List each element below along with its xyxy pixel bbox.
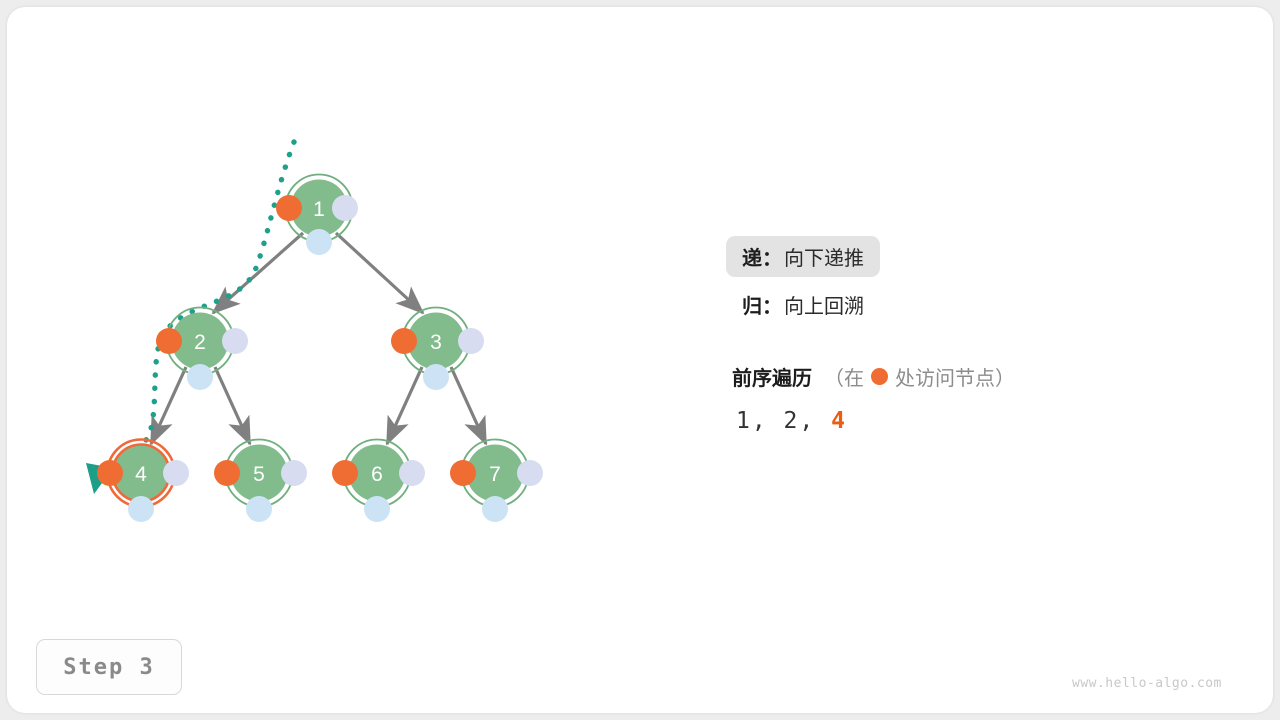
tree-nodes: 1 2 3: [97, 175, 543, 523]
node-6-lavender-dot: [399, 460, 425, 486]
edge-3-6: [387, 367, 422, 444]
traversal-heading: 前序遍历 （在 处访问节点）: [732, 362, 1015, 391]
node-2-blue-dot: [187, 364, 213, 390]
legend-badge-recurse: 递： 向下递推: [726, 236, 880, 277]
node-6-label: 6: [371, 463, 383, 486]
recursion-path-line: [112, 142, 294, 470]
node-1-lavender-dot: [332, 195, 358, 221]
traversal-note-suffix: 处访问节点）: [895, 362, 1015, 391]
traversal-title: 前序遍历: [732, 362, 812, 391]
legend-text-backtrack: 向上回溯: [784, 290, 864, 319]
node-6-orange-dot: [332, 460, 358, 486]
edge-1-2: [213, 233, 303, 313]
legend-text-recurse: 向下递推: [784, 242, 864, 271]
tree-node-4[interactable]: 4: [97, 440, 189, 523]
node-1-label: 1: [313, 198, 325, 221]
node-4-lavender-dot: [163, 460, 189, 486]
node-1-blue-dot: [306, 229, 332, 255]
node-2-label: 2: [194, 331, 206, 354]
node-3-blue-dot: [423, 364, 449, 390]
step-badge: Step 3: [36, 639, 182, 695]
tree-node-7[interactable]: 7: [450, 440, 543, 523]
tree-node-2[interactable]: 2: [156, 308, 248, 391]
legend-row-recurse: 递： 向下递推: [726, 232, 1246, 280]
node-7-blue-dot: [482, 496, 508, 522]
legend-keyword-backtrack: 归：: [742, 290, 782, 319]
node-5-blue-dot: [246, 496, 272, 522]
edge-2-5: [215, 367, 250, 444]
traversal-sequence-current: 4: [831, 408, 847, 434]
node-5-lavender-dot: [281, 460, 307, 486]
legend-badge-backtrack: 归： 向上回溯: [726, 284, 880, 325]
tree-node-3[interactable]: 3: [391, 308, 484, 391]
node-2-lavender-dot: [222, 328, 248, 354]
watermark: www.hello-algo.com: [1072, 676, 1222, 691]
node-1-orange-dot: [276, 195, 302, 221]
traversal-note-prefix: （在: [824, 362, 864, 391]
node-4-label: 4: [135, 463, 147, 486]
node-6-blue-dot: [364, 496, 390, 522]
node-3-label: 3: [430, 331, 442, 354]
node-4-blue-dot: [128, 496, 154, 522]
edge-2-4: [151, 367, 186, 444]
tree-node-5[interactable]: 5: [214, 440, 307, 523]
legend-block: 递： 向下递推 归： 向上回溯: [726, 232, 1246, 328]
legend-keyword-recurse: 递：: [742, 242, 782, 271]
node-7-lavender-dot: [517, 460, 543, 486]
edge-3-7: [451, 367, 486, 444]
node-7-orange-dot: [450, 460, 476, 486]
legend-row-backtrack: 归： 向上回溯: [726, 280, 1246, 328]
node-3-orange-dot: [391, 328, 417, 354]
node-5-label: 5: [253, 463, 265, 486]
node-4-orange-dot: [97, 460, 123, 486]
screenshot-canvas: 1 2 3: [0, 0, 1280, 720]
traversal-sequence-visited: 1, 2,: [736, 408, 815, 434]
tree-node-6[interactable]: 6: [332, 440, 425, 523]
node-7-label: 7: [489, 463, 501, 486]
node-2-orange-dot: [156, 328, 182, 354]
traversal-sequence: 1, 2, 4: [736, 408, 847, 434]
edge-1-3: [336, 233, 423, 313]
node-3-lavender-dot: [458, 328, 484, 354]
tree-diagram: 1 2 3: [0, 0, 1280, 720]
orange-dot-icon: [871, 368, 888, 385]
node-5-orange-dot: [214, 460, 240, 486]
